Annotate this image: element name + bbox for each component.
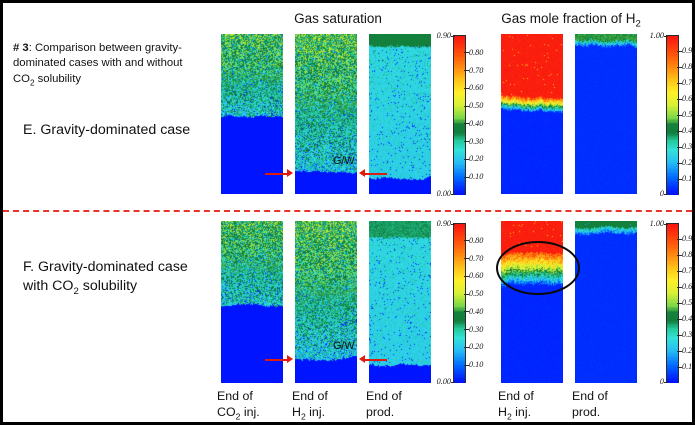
colorbar-tick-max: 1.00 xyxy=(650,219,664,228)
panel-E-h2-prod xyxy=(575,34,637,194)
colorbar-tick: 0.30 xyxy=(682,330,695,339)
colorbar-tick: 0.30 xyxy=(469,137,483,146)
gw-label-row-f: G/W xyxy=(333,340,355,352)
colorbar-tick: 0.10 xyxy=(469,172,483,181)
case-f-line2-tail: solubility xyxy=(79,278,137,294)
colorbar-tick: 0.60 xyxy=(469,83,483,92)
case-label-f: F. Gravity-dominated case with CO2 solub… xyxy=(23,258,228,299)
caption-h2-prod: End of prod. xyxy=(572,388,608,420)
note-number: # 3 xyxy=(13,42,29,54)
case-f-line1: F. Gravity-dominated case xyxy=(23,259,188,275)
colorbar-gas-saturation-top: 0.900.000.800.700.600.500.400.300.200.10 xyxy=(435,35,495,195)
colorbar-tick: 0.20 xyxy=(682,346,695,355)
caption-h2-h2inj: End of H2 inj. xyxy=(498,388,534,423)
mixing-zone-highlight-ellipse xyxy=(496,241,580,295)
colorbar-tick: 0.20 xyxy=(469,342,483,351)
colorbar-tick: 0.90 xyxy=(682,234,695,243)
colorbar-tick-max: 0.90 xyxy=(437,31,451,40)
colorbar-tick: 0.80 xyxy=(469,236,483,245)
panel-E-h2-h2inj xyxy=(501,34,563,194)
gw-arrow-left-row-e xyxy=(265,169,293,178)
colorbar-tick: 0.10 xyxy=(682,174,695,183)
colorbar-gradient xyxy=(453,223,466,383)
colorbar-tick: 0.70 xyxy=(682,266,695,275)
colorbar-tick: 0.10 xyxy=(469,360,483,369)
colorbar-tick: 0.30 xyxy=(469,325,483,334)
gw-arrow-right-row-f xyxy=(359,355,387,364)
colorbar-tick: 0.40 xyxy=(682,126,695,135)
colorbar-tick: 0.60 xyxy=(682,94,695,103)
case-f-line2: with CO xyxy=(23,278,73,294)
colorbar-tick: 0.80 xyxy=(682,62,695,71)
colorbar-gas-saturation-bottom: 0.900.000.800.700.600.500.400.300.200.10 xyxy=(435,223,495,383)
colorbar-tick-max: 0.90 xyxy=(437,219,451,228)
colorbar-gradient xyxy=(453,35,466,195)
colorbar-h2-mole-fraction-top: 1.0000.900.800.700.600.500.400.300.200.1… xyxy=(648,35,695,195)
panel-E-sat-h2inj xyxy=(295,34,357,194)
colorbar-tick: 0.40 xyxy=(469,307,483,316)
case-label-e: E. Gravity-dominated case xyxy=(23,121,228,140)
row-divider xyxy=(3,210,692,212)
colorbar-tick-min: 0.00 xyxy=(437,189,451,198)
caption-sat-co2inj: End of CO2 inj. xyxy=(217,388,260,423)
figure-root: Gas saturation Gas mole fraction of H2 #… xyxy=(0,0,695,425)
panel-F-sat-h2inj xyxy=(295,221,357,383)
colorbar-tick: 0.10 xyxy=(682,362,695,371)
colorbar-tick-min: 0.00 xyxy=(437,377,451,386)
colorbar-tick: 0.80 xyxy=(682,250,695,259)
colorbar-tick: 0.60 xyxy=(469,271,483,280)
colorbar-tick: 0.40 xyxy=(682,314,695,323)
caption-sat-prod: End of prod. xyxy=(366,388,402,420)
colorbar-tick-min: 0 xyxy=(660,189,664,198)
colorbar-tick: 0.50 xyxy=(469,101,483,110)
title-h2-mole-fraction: Gas mole fraction of H2 xyxy=(471,11,671,30)
figure-note: # 3: Comparison between gravity-dominate… xyxy=(13,41,198,88)
colorbar-tick: 0.20 xyxy=(682,158,695,167)
gw-arrow-left-row-f xyxy=(265,355,293,364)
colorbar-tick: 0.40 xyxy=(469,119,483,128)
colorbar-tick-max: 1.00 xyxy=(650,31,664,40)
h2-subscript: 2 xyxy=(636,19,641,30)
colorbar-tick: 0.30 xyxy=(682,142,695,151)
gw-arrow-right-row-e xyxy=(359,169,387,178)
gw-label-row-e: G/W xyxy=(333,155,355,167)
caption-sat-h2inj: End of H2 inj. xyxy=(292,388,328,423)
colorbar-tick: 0.50 xyxy=(469,289,483,298)
colorbar-h2-mole-fraction-bottom: 1.0000.900.800.700.600.500.400.300.200.1… xyxy=(648,223,695,383)
note-tail: solubility xyxy=(35,73,81,85)
colorbar-tick: 0.90 xyxy=(682,46,695,55)
colorbar-tick: 0.60 xyxy=(682,282,695,291)
title-gas-saturation: Gas saturation xyxy=(248,11,428,26)
colorbar-tick: 0.70 xyxy=(682,78,695,87)
case-e-line1: E. Gravity-dominated case xyxy=(23,122,190,138)
colorbar-tick: 0.70 xyxy=(469,254,483,263)
colorbar-tick: 0.50 xyxy=(682,298,695,307)
colorbar-tick: 0.70 xyxy=(469,66,483,75)
panel-F-h2-prod xyxy=(575,221,637,383)
colorbar-tick-min: 0 xyxy=(660,377,664,386)
colorbar-tick: 0.50 xyxy=(682,110,695,119)
colorbar-tick: 0.20 xyxy=(469,154,483,163)
colorbar-tick: 0.80 xyxy=(469,48,483,57)
